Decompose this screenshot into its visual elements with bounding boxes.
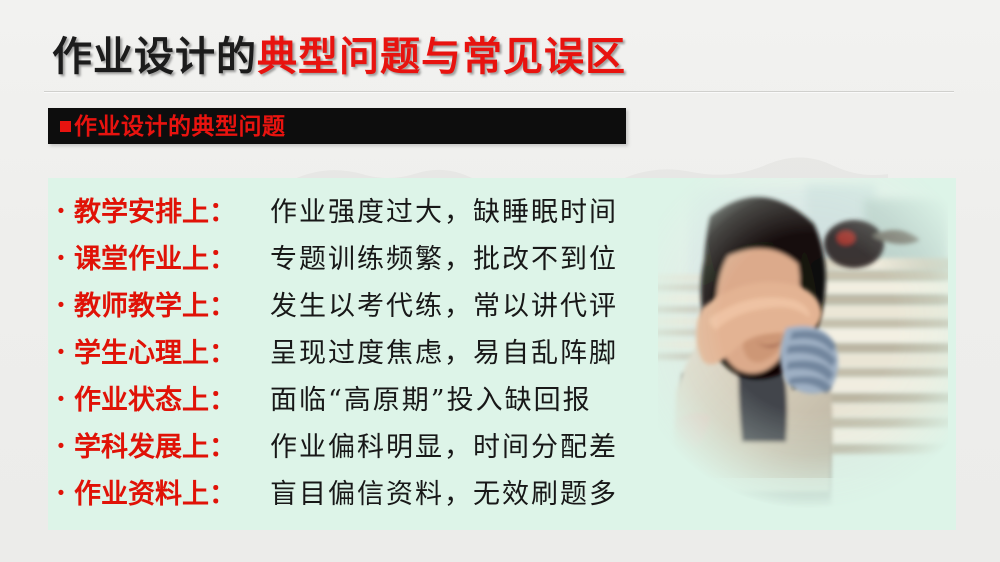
list-item-desc: 盲目偏信资料，无效刷题多 — [270, 472, 618, 511]
list-item-desc: 发生以考代练，常以讲代评 — [270, 284, 618, 323]
bullet-icon: • — [48, 390, 74, 409]
bullet-icon: • — [48, 343, 74, 362]
list-item-desc: 专题训练频繁，批改不到位 — [270, 237, 618, 276]
page-title: 作业设计的典型问题与常见误区 — [52, 24, 626, 82]
list-item: • 教学安排上： 作业强度过大，缺睡眠时间 — [48, 190, 708, 237]
list-item-desc: 面临“高原期”投入缺回报 — [270, 378, 592, 417]
square-bullet-icon — [60, 121, 71, 132]
list-item-desc: 呈现过度焦虑，易自乱阵脚 — [270, 331, 618, 370]
list-item-label: 学科发展上： — [74, 425, 270, 464]
page-title-prefix: 作业设计的 — [52, 35, 257, 79]
list-item: • 学科发展上： 作业偏科明显，时间分配差 — [48, 425, 708, 472]
section-heading-bar: 作业设计的典型问题 — [48, 108, 626, 144]
list-item-label: 教学安排上： — [74, 190, 270, 229]
list-item-desc: 作业强度过大，缺睡眠时间 — [270, 190, 618, 229]
list-item: • 作业状态上： 面临“高原期”投入缺回报 — [48, 378, 708, 425]
list-item-desc: 作业偏科明显，时间分配差 — [270, 425, 618, 464]
page-title-highlight: 典型问题与常见误区 — [257, 35, 626, 79]
bullet-icon: • — [48, 484, 74, 503]
list-item-label: 学生心理上： — [74, 331, 270, 370]
bullet-icon: • — [48, 202, 74, 221]
list-item-label: 教师教学上： — [74, 284, 270, 323]
slide-canvas: 作业设计的典型问题与常见误区 作业设计的典型问题 — [0, 0, 1000, 562]
bullet-icon: • — [48, 437, 74, 456]
list-item-label: 课堂作业上： — [74, 237, 270, 276]
list-item: • 学生心理上： 呈现过度焦虑，易自乱阵脚 — [48, 331, 708, 378]
bullet-icon: • — [48, 249, 74, 268]
list-item: • 教师教学上： 发生以考代练，常以讲代评 — [48, 284, 708, 331]
list-item-label: 作业状态上： — [74, 378, 270, 417]
bullet-icon: • — [48, 296, 74, 315]
problem-list: • 教学安排上： 作业强度过大，缺睡眠时间 • 课堂作业上： 专题训练频繁，批改… — [48, 190, 708, 519]
list-item-label: 作业资料上： — [74, 472, 270, 511]
title-divider — [44, 91, 954, 92]
list-item: • 作业资料上： 盲目偏信资料，无效刷题多 — [48, 472, 708, 519]
list-item: • 课堂作业上： 专题训练频繁，批改不到位 — [48, 237, 708, 284]
section-heading-label: 作业设计的典型问题 — [74, 115, 286, 138]
content-panel: • 教学安排上： 作业强度过大，缺睡眠时间 • 课堂作业上： 专题训练频繁，批改… — [48, 178, 956, 530]
